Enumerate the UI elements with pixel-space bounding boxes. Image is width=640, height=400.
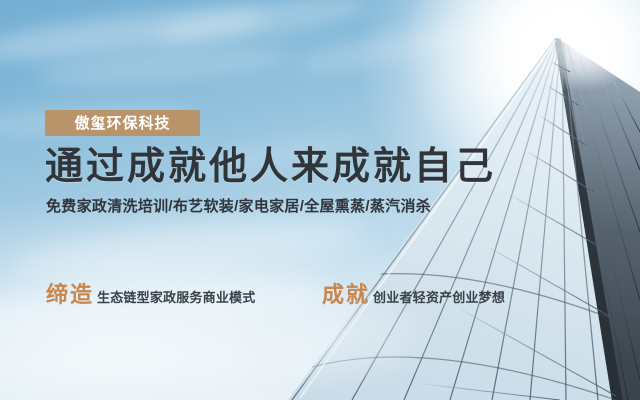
tagline-description: 生态链型家政服务商业模式 (97, 291, 255, 304)
hero-banner: 傲玺环保科技 通过成就他人来成就自己 免费家政清洗培训/布艺软装/家电家居/全屋… (0, 0, 640, 400)
headline-text: 通过成就他人来成就自己 (45, 147, 496, 188)
subtitle-text: 免费家政清洗培训/布艺软装/家电家居/全屋熏蒸/蒸汽消杀 (46, 198, 431, 216)
brand-badge-label: 傲玺环保科技 (74, 116, 170, 131)
tagline-description: 创业者轻资产创业梦想 (373, 291, 505, 304)
tagline-keyword: 缔造 (46, 284, 94, 306)
tagline-primary: 缔造 生态链型家政服务商业模式 (46, 284, 255, 306)
banner-content: 傲玺环保科技 通过成就他人来成就自己 免费家政清洗培训/布艺软装/家电家居/全屋… (0, 0, 640, 400)
tagline-keyword: 成就 (322, 284, 370, 306)
tagline-secondary: 成就 创业者轻资产创业梦想 (322, 284, 505, 306)
brand-badge: 傲玺环保科技 (45, 110, 200, 136)
